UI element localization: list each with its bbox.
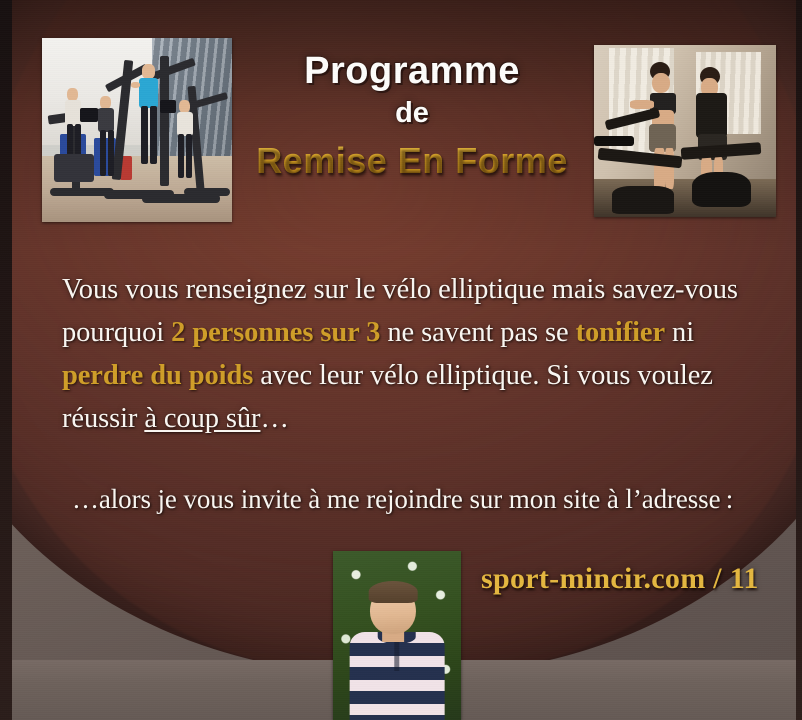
body-seg-highlight-2-personnes-sur-3: 2 personnes sur 3 bbox=[171, 317, 380, 348]
body-seg-text: …alors je vous invite à me rejoindre sur… bbox=[72, 484, 733, 514]
body-seg-highlight-tonifier: tonifier bbox=[576, 317, 665, 348]
photo-person-hair bbox=[369, 581, 418, 603]
photo-person-tanktop bbox=[696, 93, 727, 138]
photo-person-leg bbox=[100, 130, 106, 176]
photo-person-arm bbox=[630, 100, 654, 109]
photo-machine-body bbox=[54, 154, 94, 182]
body-seg-highlight-perdre-du-poids: perdre du poids bbox=[62, 360, 253, 391]
photo-person-striped-polo bbox=[350, 632, 445, 720]
photo-person-top bbox=[98, 108, 114, 132]
body-seg-text: … bbox=[260, 403, 288, 434]
photo-elliptical-bar bbox=[594, 136, 634, 146]
body-seg-underline-a-coup-sur: à coup sûr bbox=[144, 403, 260, 434]
photo-person-leg bbox=[141, 106, 148, 164]
header-title-block: Programme de Remise En Forme bbox=[252, 52, 572, 182]
gym-couple-photo bbox=[594, 45, 776, 217]
body-paragraph-2: …alors je vous invite à me rejoindre sur… bbox=[72, 478, 788, 520]
frame-left-bar bbox=[0, 0, 12, 720]
gym-elliptical-group-photo bbox=[42, 38, 232, 222]
photo-person-leg bbox=[178, 134, 184, 178]
photo-person-top bbox=[65, 100, 81, 126]
photo-elliptical-base bbox=[184, 188, 230, 196]
photo-person-leg bbox=[186, 134, 192, 178]
photo-person-head bbox=[142, 64, 155, 79]
body-paragraph-1: Vous vous renseignez sur le vélo ellipti… bbox=[62, 268, 774, 440]
photo-person-top bbox=[139, 78, 158, 108]
photo-elliptical-flywheel bbox=[612, 186, 674, 214]
photo-person-leg bbox=[150, 106, 157, 164]
photo-elliptical-flywheel bbox=[692, 172, 750, 206]
photo-machine-console bbox=[160, 100, 176, 113]
photo-person-arm bbox=[131, 82, 140, 88]
website-url-text[interactable]: sport-mincir.com / 11 bbox=[481, 562, 759, 596]
slide-canvas: Programme de Remise En Forme Vous vous r… bbox=[0, 0, 802, 720]
header-line-remise-en-forme: Remise En Forme bbox=[252, 140, 572, 182]
body-seg-text: ni bbox=[665, 317, 694, 348]
header-line-programme: Programme bbox=[252, 52, 572, 91]
body-seg-text: ne savent pas se bbox=[380, 317, 575, 348]
photo-machine-console bbox=[80, 108, 98, 122]
photo-person-head bbox=[652, 73, 670, 94]
photo-person-top bbox=[177, 112, 193, 136]
photo-person-leg bbox=[108, 130, 114, 176]
frame-right-bar bbox=[796, 0, 802, 720]
header-line-de: de bbox=[252, 99, 572, 129]
presenter-portrait-photo bbox=[333, 551, 461, 720]
